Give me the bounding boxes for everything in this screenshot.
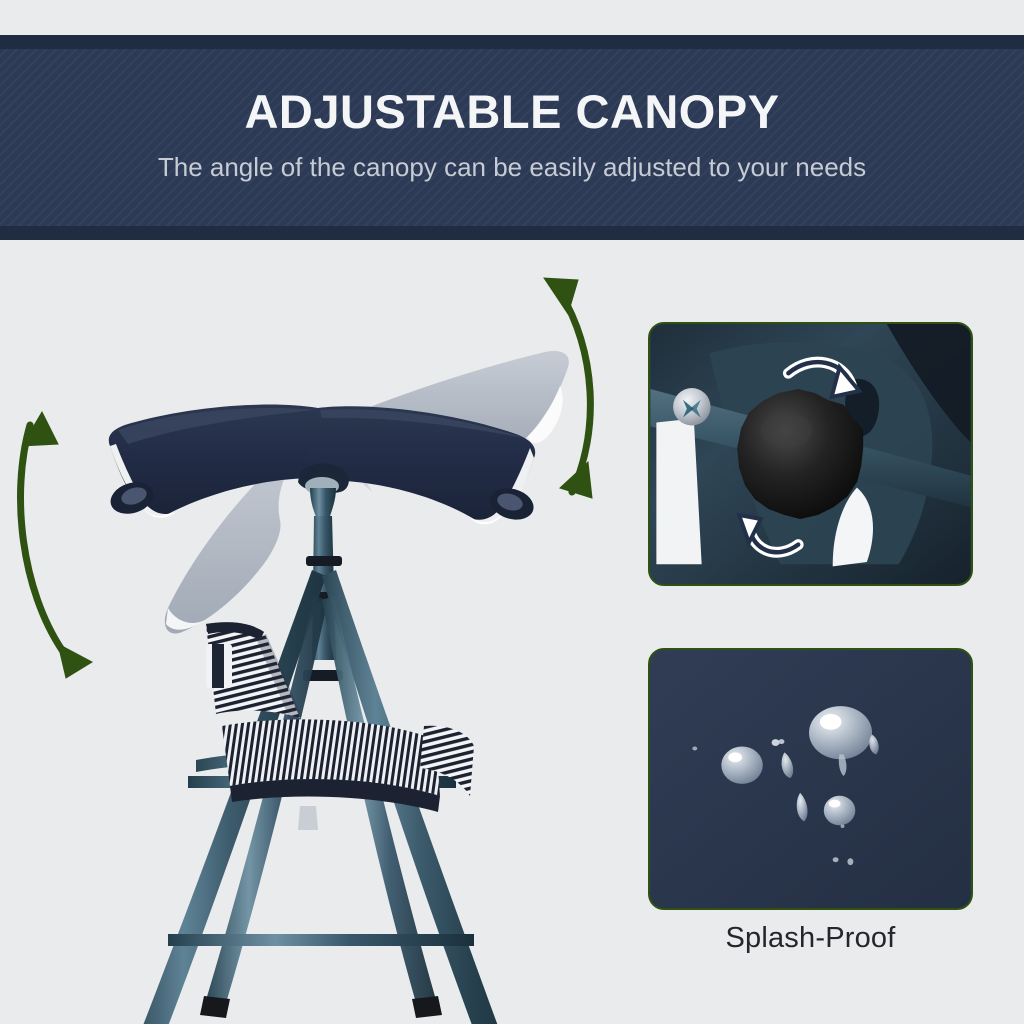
splash-proof-caption: Splash-Proof [648, 922, 973, 955]
splash-proof-detail-panel [648, 648, 973, 910]
banner-bottom-edge [0, 226, 1024, 240]
header-banner: ADJUSTABLE CANOPY The angle of the canop… [0, 35, 1024, 240]
banner-title: ADJUSTABLE CANOPY [244, 87, 779, 136]
banner-top-edge [0, 35, 1024, 49]
adjustment-knob-detail-panel [648, 322, 973, 586]
screw-head [673, 388, 710, 425]
rotation-arrow-left [20, 412, 92, 678]
banner-subtitle: The angle of the canopy can be easily ad… [158, 150, 866, 184]
splash-panel-background [650, 650, 970, 908]
canopy-center-hub [305, 477, 339, 522]
product-hero-image [0, 240, 630, 1024]
